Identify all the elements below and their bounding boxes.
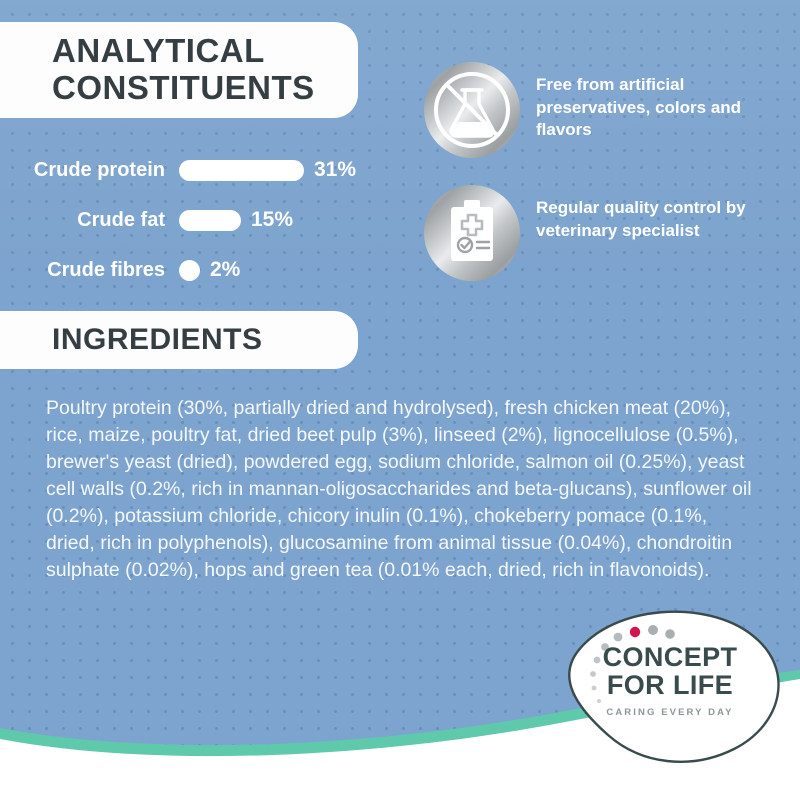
analytical-constituents-header-panel: ANALYTICAL CONSTITUENTS: [0, 22, 358, 118]
logo-wordmark: CONCEPT FOR LIFE: [556, 643, 784, 699]
feature-quality-control: Regular quality control by veterinary sp…: [424, 185, 771, 281]
constituent-row: Crude fibres 2%: [0, 252, 420, 288]
clipboard-medical-check-icon: [424, 185, 520, 281]
ingredients-header-panel: INGREDIENTS: [0, 311, 358, 369]
constituent-value: 15%: [251, 208, 293, 232]
page-title: ANALYTICAL CONSTITUENTS: [52, 33, 358, 107]
feature-label: Regular quality control by veterinary sp…: [536, 197, 771, 242]
no-artificial-flask-icon: [424, 62, 520, 158]
constituent-bar: [179, 260, 200, 281]
constituent-label: Crude fibres: [0, 259, 179, 282]
constituent-row: Crude fat 15%: [0, 202, 420, 238]
brand-logo: CONCEPT FOR LIFE CARING EVERY DAY: [556, 607, 784, 767]
logo-tagline: CARING EVERY DAY: [556, 707, 784, 718]
logo-line-2: FOR LIFE: [556, 671, 784, 699]
constituent-value: 31%: [314, 158, 356, 182]
constituent-bar: [179, 160, 304, 181]
section-title: INGREDIENTS: [52, 323, 263, 357]
constituent-value: 2%: [210, 258, 240, 282]
feature-label: Free from artificial preservatives, colo…: [536, 74, 771, 142]
analytical-constituents-chart: Crude protein 31% Crude fat 15% Crude fi…: [0, 152, 420, 302]
constituent-label: Crude fat: [0, 209, 179, 232]
constituent-bar: [179, 210, 241, 231]
ingredients-list-text: Poultry protein (30%, partially dried an…: [46, 395, 758, 584]
constituent-row: Crude protein 31%: [0, 152, 420, 188]
constituent-label: Crude protein: [0, 159, 179, 182]
logo-line-1: CONCEPT: [556, 643, 784, 671]
product-info-infographic: ANALYTICAL CONSTITUENTS Crude protein 31…: [0, 0, 800, 800]
feature-no-artificial-additives: Free from artificial preservatives, colo…: [424, 62, 771, 158]
